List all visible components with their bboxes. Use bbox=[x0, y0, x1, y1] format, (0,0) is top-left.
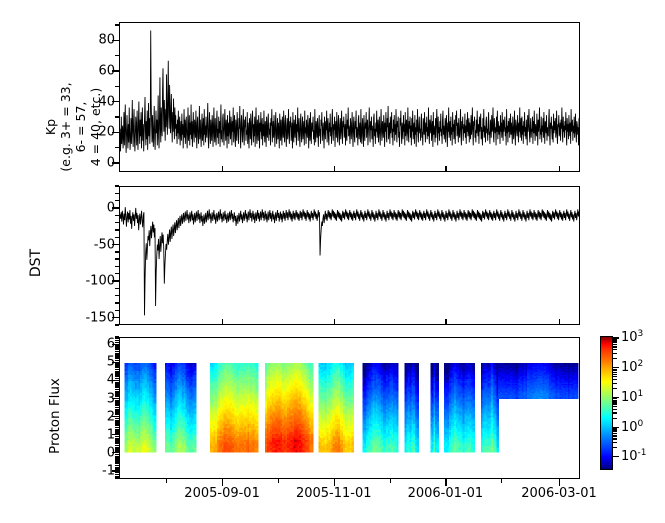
ytick-mark bbox=[112, 132, 119, 133]
ytick-minor-mark bbox=[115, 371, 119, 372]
ytick-minor-mark bbox=[115, 468, 119, 469]
colorbar-minor-tick bbox=[613, 379, 617, 380]
ytick-minor-mark bbox=[115, 401, 119, 402]
dst-axis-title: DST bbox=[28, 208, 44, 318]
xtick-label: 2005-11-01 bbox=[296, 486, 372, 501]
xtick-label: 2006-03-01 bbox=[521, 486, 597, 501]
ytick-minor-mark bbox=[115, 447, 119, 448]
ytick-minor-mark bbox=[115, 295, 119, 296]
axis-title-line: 4 = 40, etc.) bbox=[88, 47, 103, 207]
ytick-minor-mark bbox=[115, 374, 119, 375]
ytick-minor-mark bbox=[115, 353, 119, 354]
colorbar-tick-mark bbox=[613, 367, 619, 368]
colorbar-minor-tick bbox=[613, 400, 617, 401]
colorbar-minor-tick bbox=[613, 442, 617, 443]
colorbar-minor-tick bbox=[613, 372, 617, 373]
ytick-minor-mark bbox=[115, 342, 119, 343]
colorbar-minor-tick bbox=[613, 374, 617, 375]
colorbar-minor-tick bbox=[613, 438, 617, 439]
ytick-minor-mark bbox=[115, 193, 119, 194]
data-line bbox=[120, 31, 579, 153]
ytick-minor-mark bbox=[115, 365, 119, 366]
ytick-minor-mark bbox=[115, 392, 119, 393]
xtick-minor-mark bbox=[166, 479, 167, 483]
ytick-minor-mark bbox=[115, 258, 119, 259]
ytick-minor-mark bbox=[115, 405, 119, 406]
ytick-minor-mark bbox=[115, 436, 119, 437]
ytick-minor-mark bbox=[115, 461, 119, 462]
ytick-mark bbox=[112, 280, 119, 281]
xtick-mark bbox=[559, 166, 560, 172]
colorbar-tick-label: 101 bbox=[621, 389, 643, 405]
ytick-minor-mark bbox=[115, 476, 119, 477]
ytick-minor-mark bbox=[115, 409, 119, 410]
ytick-minor-mark bbox=[115, 429, 119, 430]
ytick-minor-mark bbox=[115, 200, 119, 201]
dst-panel bbox=[119, 186, 580, 325]
ytick-minor-mark bbox=[115, 445, 119, 446]
colorbar-minor-tick bbox=[613, 376, 617, 377]
axis-title-line: Kp bbox=[43, 47, 58, 207]
ytick-minor-mark bbox=[115, 351, 119, 352]
ytick-minor-mark bbox=[115, 24, 119, 25]
xtick-label: 2006-01-01 bbox=[408, 486, 484, 501]
colorbar-minor-tick bbox=[613, 344, 617, 345]
ytick-minor-mark bbox=[115, 400, 119, 401]
axis-title-line: 6- = 57, bbox=[73, 47, 88, 207]
ytick-mark bbox=[112, 162, 119, 163]
colorbar-minor-tick bbox=[613, 349, 617, 350]
colorbar-minor-tick bbox=[613, 346, 617, 347]
proton-flux-panel bbox=[119, 337, 580, 479]
xtick-minor-mark bbox=[278, 479, 279, 483]
ytick-minor-mark bbox=[115, 459, 119, 460]
xtick-mark bbox=[222, 479, 223, 486]
ytick-minor-mark bbox=[115, 356, 119, 357]
colorbar-minor-tick bbox=[613, 353, 617, 354]
dst-ytick-labels: 0-50-100-150 bbox=[71, 186, 115, 325]
ytick-label: -100 bbox=[85, 275, 115, 288]
ytick-minor-mark bbox=[115, 396, 119, 397]
ytick-minor-mark bbox=[115, 369, 119, 370]
colorbar-tick-label: 100 bbox=[621, 418, 643, 434]
ytick-minor-mark bbox=[115, 467, 119, 468]
ytick-minor-mark bbox=[115, 237, 119, 238]
axis-title-line: DST bbox=[28, 208, 44, 318]
ytick-minor-mark bbox=[115, 55, 119, 56]
ytick-minor-mark bbox=[115, 420, 119, 421]
ytick-minor-mark bbox=[115, 185, 119, 186]
xtick-mark bbox=[559, 479, 560, 486]
data-line bbox=[120, 207, 579, 315]
spectrogram-blocks bbox=[125, 363, 579, 453]
ytick-minor-mark bbox=[115, 391, 119, 392]
ytick-minor-mark bbox=[115, 345, 119, 346]
ytick-mark bbox=[112, 40, 119, 41]
colorbar-minor-tick bbox=[613, 406, 617, 407]
proton-flux-spectrogram bbox=[120, 338, 579, 478]
ytick-minor-mark bbox=[115, 403, 119, 404]
ytick-minor-mark bbox=[115, 310, 119, 311]
colorbar-minor-tick bbox=[613, 342, 617, 343]
xtick-minor-mark bbox=[501, 479, 502, 483]
ytick-minor-mark bbox=[115, 358, 119, 359]
colorbar-minor-tick bbox=[613, 370, 617, 371]
axis-title-line: Proton Flux bbox=[47, 351, 63, 481]
kp-axis-title: Kp(e.g. 3+ = 33,6- = 57,4 = 40, etc.) bbox=[43, 47, 103, 207]
proton-flux-colorbar bbox=[600, 336, 613, 470]
xtick-mark bbox=[445, 479, 446, 486]
dst-series-plot bbox=[120, 187, 579, 324]
colorbar-minor-tick bbox=[613, 340, 617, 341]
ytick-minor-mark bbox=[115, 389, 119, 390]
ytick-minor-mark bbox=[115, 229, 119, 230]
ytick-mark bbox=[112, 244, 119, 245]
ytick-mark bbox=[112, 101, 119, 102]
space-weather-figure: 020406080 Kp(e.g. 3+ = 33,6- = 57,4 = 40… bbox=[0, 0, 665, 523]
ytick-minor-mark bbox=[115, 450, 119, 451]
xtick-mark bbox=[445, 319, 446, 325]
colorbar-tick-mark bbox=[613, 427, 619, 428]
ytick-mark bbox=[112, 317, 119, 318]
colorbar-tick-mark bbox=[613, 397, 619, 398]
ytick-minor-mark bbox=[115, 367, 119, 368]
ytick-minor-mark bbox=[115, 472, 119, 473]
ytick-minor-mark bbox=[115, 363, 119, 364]
ytick-minor-mark bbox=[115, 302, 119, 303]
colorbar-minor-tick bbox=[613, 435, 617, 436]
colorbar-tick-mark bbox=[613, 337, 619, 338]
proton-flux-axis-title: Proton Flux bbox=[47, 351, 63, 481]
ytick-minor-mark bbox=[115, 425, 119, 426]
colorbar-tick-label: 102 bbox=[621, 359, 643, 375]
ytick-mark bbox=[112, 70, 119, 71]
colorbar-tick-mark bbox=[613, 456, 619, 457]
ytick-minor-mark bbox=[115, 336, 119, 337]
ytick-minor-mark bbox=[115, 360, 119, 361]
ytick-minor-mark bbox=[115, 432, 119, 433]
colorbar-minor-tick bbox=[613, 429, 617, 430]
xtick-mark bbox=[222, 166, 223, 172]
ytick-minor-mark bbox=[115, 340, 119, 341]
colorbar-tick-label: 103 bbox=[621, 329, 643, 345]
axis-title-line: (e.g. 3+ = 33, bbox=[58, 47, 73, 207]
colorbar-minor-tick bbox=[613, 447, 617, 448]
ytick-minor-mark bbox=[115, 376, 119, 377]
ytick-minor-mark bbox=[115, 349, 119, 350]
ytick-minor-mark bbox=[115, 378, 119, 379]
ytick-label: -150 bbox=[85, 311, 115, 324]
ytick-minor-mark bbox=[115, 454, 119, 455]
colorbar-minor-tick bbox=[613, 409, 617, 410]
ytick-minor-mark bbox=[115, 441, 119, 442]
ytick-minor-mark bbox=[115, 427, 119, 428]
xtick-minor-mark bbox=[390, 479, 391, 483]
ytick-minor-mark bbox=[115, 222, 119, 223]
ytick-minor-mark bbox=[115, 423, 119, 424]
colorbar-minor-tick bbox=[613, 339, 617, 340]
ytick-minor-mark bbox=[115, 266, 119, 267]
kp-panel bbox=[119, 22, 580, 172]
ytick-minor-mark bbox=[115, 372, 119, 373]
xtick-mark bbox=[334, 479, 335, 486]
ytick-minor-mark bbox=[115, 463, 119, 464]
colorbar-minor-tick bbox=[613, 369, 617, 370]
ytick-minor-mark bbox=[115, 116, 119, 117]
ytick-minor-mark bbox=[115, 448, 119, 449]
ytick-minor-mark bbox=[115, 382, 119, 383]
ytick-minor-mark bbox=[115, 407, 119, 408]
xtick-label: 2005-09-01 bbox=[184, 486, 260, 501]
colorbar-minor-tick bbox=[613, 401, 617, 402]
ytick-minor-mark bbox=[115, 456, 119, 457]
ytick-minor-mark bbox=[115, 410, 119, 411]
ytick-minor-mark bbox=[115, 288, 119, 289]
ytick-minor-mark bbox=[115, 412, 119, 413]
ytick-minor-mark bbox=[115, 439, 119, 440]
xtick-mark bbox=[445, 166, 446, 172]
colorbar-minor-tick bbox=[613, 403, 617, 404]
colorbar-minor-tick bbox=[613, 428, 617, 429]
ytick-minor-mark bbox=[115, 457, 119, 458]
colorbar-tick-label: 10-1 bbox=[621, 448, 647, 464]
ytick-minor-mark bbox=[115, 86, 119, 87]
colorbar-minor-tick bbox=[613, 418, 617, 419]
kp-series-plot bbox=[120, 23, 579, 171]
ytick-minor-mark bbox=[115, 474, 119, 475]
ytick-minor-mark bbox=[115, 324, 119, 325]
ytick-minor-mark bbox=[115, 215, 119, 216]
xtick-mark bbox=[334, 166, 335, 172]
xtick-mark bbox=[334, 319, 335, 325]
colorbar-minor-tick bbox=[613, 412, 617, 413]
proton-flux-ytick-labels: -10123456 bbox=[71, 337, 115, 479]
ytick-minor-mark bbox=[115, 147, 119, 148]
ytick-minor-mark bbox=[115, 338, 119, 339]
ytick-minor-mark bbox=[115, 394, 119, 395]
ytick-minor-mark bbox=[115, 418, 119, 419]
ytick-minor-mark bbox=[115, 387, 119, 388]
colorbar-minor-tick bbox=[613, 358, 617, 359]
ytick-minor-mark bbox=[115, 251, 119, 252]
ytick-minor-mark bbox=[115, 383, 119, 384]
colorbar-minor-tick bbox=[613, 388, 617, 389]
ytick-minor-mark bbox=[115, 443, 119, 444]
ytick-minor-mark bbox=[115, 430, 119, 431]
xtick-mark bbox=[559, 319, 560, 325]
ytick-minor-mark bbox=[115, 354, 119, 355]
ytick-minor-mark bbox=[115, 273, 119, 274]
ytick-minor-mark bbox=[115, 465, 119, 466]
colorbar-minor-tick bbox=[613, 431, 617, 432]
ytick-minor-mark bbox=[115, 421, 119, 422]
ytick-minor-mark bbox=[115, 385, 119, 386]
colorbar-minor-tick bbox=[613, 398, 617, 399]
colorbar-minor-tick bbox=[613, 433, 617, 434]
ytick-minor-mark bbox=[115, 477, 119, 478]
ytick-minor-mark bbox=[115, 414, 119, 415]
ytick-mark bbox=[112, 207, 119, 208]
ytick-minor-mark bbox=[115, 438, 119, 439]
colorbar-minor-tick bbox=[613, 383, 617, 384]
xtick-mark bbox=[222, 319, 223, 325]
ytick-minor-mark bbox=[115, 347, 119, 348]
